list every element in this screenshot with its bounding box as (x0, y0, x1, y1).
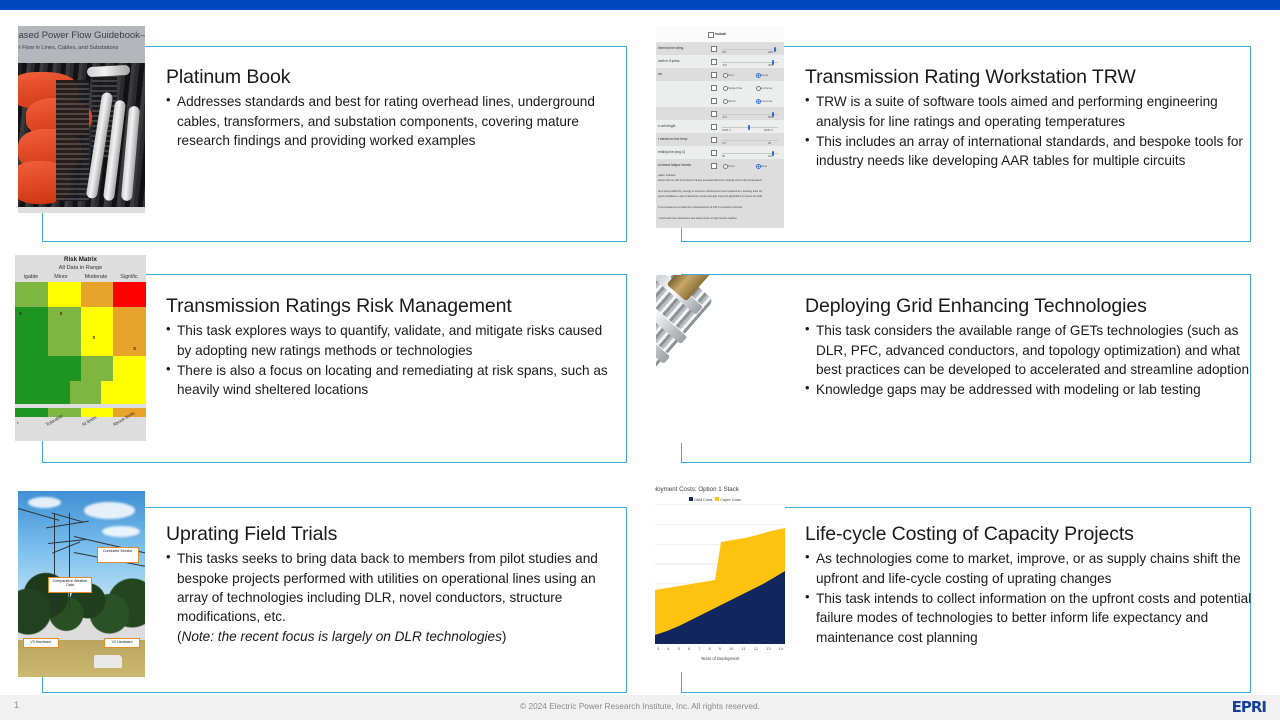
panel-text: Transmission Rating Workstation TRW TRW … (805, 66, 1255, 172)
tower-leg (54, 513, 55, 617)
list-item: There is also a focus on locating and re… (166, 361, 618, 400)
list-item-lead: This tasks seeks to bring data back to m… (177, 551, 598, 624)
chart-x-ticks: 3 4 5 6 7 8 9 10 11 12 13 14 (657, 646, 783, 651)
form-row: e unit length 1000 ft 6000 ft (656, 120, 784, 133)
bullet-list: This task explores ways to quantify, val… (166, 321, 618, 399)
row-min: 0 F (722, 141, 726, 145)
row-min: 1000 ft (722, 128, 731, 132)
list-item: This includes an array of international … (805, 132, 1255, 171)
x-tick: 7 (698, 646, 700, 651)
slide-footer: 1 © 2024 Electric Power Research Institu… (0, 695, 1280, 720)
legend-swatch (15, 408, 48, 417)
risk-cell (48, 282, 81, 307)
risk-col-header: Minor (44, 274, 78, 280)
legend-swatch-oam (689, 497, 693, 501)
x-tick: 5 (678, 646, 680, 651)
legend-label: r (16, 420, 20, 425)
copyright-text: © 2024 Electric Power Research Institute… (0, 701, 1280, 711)
row-label: erating line (deg C) (658, 150, 685, 154)
list-item: This task explores ways to quantify, val… (166, 321, 618, 360)
legend-swatch-capex (715, 497, 719, 501)
radio-label: Good (761, 73, 768, 77)
list-item: TRW is a suite of software tools aimed a… (805, 92, 1255, 131)
book-cover-image: ncreased Power Flow Guidebook—20 g Power… (18, 26, 145, 213)
form-footnote: gation Indicator (658, 174, 676, 177)
panel-title: Transmission Rating Workstation TRW (805, 66, 1255, 88)
row-checkbox[interactable] (711, 85, 717, 91)
cover-title: ncreased Power Flow Guidebook—20 (18, 30, 145, 41)
x-tick: 8 (708, 646, 710, 651)
row-slider-knob[interactable] (748, 125, 750, 130)
panel-text: Life-cycle Costing of Capacity Projects … (805, 523, 1255, 648)
x-tick: 10 (729, 646, 733, 651)
cover-photo (18, 63, 145, 207)
row-max: 50% (768, 115, 774, 119)
list-item: This tasks seeks to bring data back to m… (166, 549, 621, 645)
risk-cell (15, 332, 48, 357)
risk-cell: x (113, 356, 146, 381)
form-row: Single Pole H-Frame (656, 81, 784, 94)
row-checkbox[interactable] (711, 111, 717, 117)
form-footnote: r wind load case clearances and safety f… (658, 217, 737, 220)
risk-col-header: Signific (111, 274, 146, 280)
radio-label: Single Pole (728, 86, 742, 90)
cable (86, 65, 130, 77)
panel-text: Uprating Field Trials This tasks seeks t… (166, 523, 621, 647)
truck (94, 655, 122, 668)
row-min: -5% (722, 115, 727, 119)
risk-marker: x (93, 335, 96, 341)
x-tick: 14 (779, 646, 783, 651)
form-row: Wood Concrete (656, 94, 784, 107)
radio-label: H-Frame (761, 86, 772, 90)
form-row: ion Poor Good (656, 68, 784, 81)
form-footnote: Time clearances to determine characteris… (658, 206, 742, 209)
row-checkbox[interactable] (711, 72, 717, 78)
risk-cell (15, 282, 48, 307)
panel-title: Platinum Book (166, 66, 618, 88)
top-accent-bar (0, 0, 1280, 10)
radio-label: Most (761, 164, 767, 168)
legend-label-oam: O&M Costs (694, 498, 712, 502)
risk-cell (81, 282, 114, 307)
conductor-body (656, 275, 788, 443)
row-min: 0% (722, 50, 726, 54)
risk-cell (48, 332, 81, 357)
chart-areas (655, 504, 785, 644)
x-tick: 13 (766, 646, 770, 651)
row-min: 50 (722, 154, 725, 158)
cloud (28, 497, 61, 508)
list-item: Knowledge gaps may be addressed with mod… (805, 380, 1255, 399)
panel-title: Deploying Grid Enhancing Technologies (805, 295, 1255, 317)
risk-cell (113, 332, 146, 357)
row-max: 30% (768, 63, 774, 67)
x-tick: 9 (719, 646, 721, 651)
risk-cell (48, 356, 81, 381)
list-item: This task considers the available range … (805, 321, 1255, 379)
panel-title: Transmission Ratings Risk Management (166, 295, 618, 317)
risk-cell (81, 307, 114, 332)
panel-text: Deploying Grid Enhancing Technologies Th… (805, 295, 1255, 401)
chart-legend: O&M Costs Capex Costs (689, 497, 741, 502)
radio-label: None (728, 164, 735, 168)
radio-label: Poor (728, 73, 734, 77)
insulator-fins (56, 80, 89, 201)
form-header: Include (656, 26, 784, 43)
x-tick: 11 (742, 646, 746, 651)
risk-matrix-image: Risk Matrix All Data in Range igable Min… (15, 255, 146, 441)
photo-tag-conductor-monitor: Conductor Monitor (97, 547, 139, 563)
legend-label-capex: Capex Costs (720, 498, 741, 502)
list-item: Addresses standards and best for rating … (166, 92, 618, 150)
row-checkbox[interactable] (711, 98, 717, 104)
row-label: e unit length (658, 124, 675, 128)
form-row: thermal line rating 0% 30% (656, 42, 784, 55)
row-label: thermal line rating (658, 46, 683, 50)
form-footnote: good candidates. Lack of aluminum tensil… (658, 195, 762, 198)
chart-title: tive Deployment Costs: Option 1 Stack (655, 486, 739, 493)
legend-entry-oam: O&M Costs (689, 498, 712, 502)
photo-tag-v2-hardware: V2 Hardware (104, 638, 140, 648)
row-max: 100 (768, 154, 773, 158)
x-tick: 12 (754, 646, 758, 651)
panel-text: Transmission Ratings Risk Management Thi… (166, 295, 618, 401)
row-checkbox[interactable] (711, 163, 717, 169)
risk-cell: x (15, 307, 48, 332)
risk-marker: x (133, 346, 136, 352)
form-row: erating line (deg C) 50 100 (656, 146, 784, 159)
trw-software-screenshot: Include thermal line rating 0% 30% owth … (656, 26, 784, 228)
bullet-list: Addresses standards and best for rating … (166, 92, 618, 150)
legend-swatch (81, 408, 114, 417)
row-label: owth in 5 years (658, 59, 679, 63)
row-checkbox[interactable] (711, 137, 717, 143)
row-label: t maximum line temp (658, 137, 687, 141)
photo-tag-v3-hardware: V3 Hardware (23, 638, 59, 648)
form-row: t maximum line temp 0 F 30 (656, 133, 784, 146)
row-checkbox[interactable] (711, 124, 717, 130)
tower-leg (69, 513, 70, 610)
cover-subtitle: g Power Flow in Lines, Cables, and Subst… (18, 45, 118, 51)
panel-title: Uprating Field Trials (166, 523, 621, 545)
risk-matrix-subtitle: All Data in Range (15, 265, 146, 271)
risk-cell: x (48, 307, 81, 332)
note-italic: Note: the recent focus is largely on DLR… (182, 629, 502, 644)
form-footnote: as is best justified by savings in struc… (658, 190, 762, 193)
x-tick: 6 (688, 646, 690, 651)
risk-fill-extra (101, 381, 146, 404)
form-row: -5% 50% (656, 107, 784, 120)
bullet-list: This tasks seeks to bring data back to m… (166, 549, 621, 645)
row-label: ion (658, 72, 662, 76)
legend-entry-capex: Capex Costs (715, 498, 741, 502)
x-tick: 3 (657, 646, 659, 651)
row-max: 6000 ft (764, 128, 773, 132)
row-max: 30% (768, 50, 774, 54)
cloud (84, 502, 135, 519)
risk-matrix-grid: x x x x (15, 282, 146, 381)
panel-text: Platinum Book Addresses standards and be… (166, 66, 618, 151)
lifecycle-chart: tive Deployment Costs: Option 1 Stack O&… (655, 484, 785, 672)
row-min: -5% (722, 63, 727, 67)
row-checkbox[interactable] (711, 46, 717, 52)
risk-cell: x (81, 332, 114, 357)
risk-cell (113, 307, 146, 332)
chart-x-label: Years of Deployment (655, 656, 785, 661)
row-slider-knob[interactable] (774, 47, 776, 52)
risk-cell (15, 356, 48, 381)
panel-title: Life-cycle Costing of Capacity Projects (805, 523, 1255, 545)
risk-marker: x (19, 311, 22, 317)
photo-tag-comparative-weather-data: Comparative Weather Data (48, 577, 91, 593)
note-close: ) (502, 629, 507, 644)
row-checkbox[interactable] (711, 150, 717, 156)
row-label: al strand fatigue breaks (658, 163, 691, 167)
list-item: As technologies come to market, improve,… (805, 549, 1255, 588)
epri-logo: EPRI (1232, 698, 1266, 716)
risk-marker: x (60, 311, 63, 317)
form-row: owth in 5 years -5% 30% (656, 55, 784, 68)
risk-fill-extra (70, 381, 101, 404)
row-checkbox[interactable] (711, 59, 717, 65)
include-checkbox[interactable] (708, 32, 714, 38)
radio-label: Concrete (761, 99, 772, 103)
risk-fill-extra (39, 381, 70, 404)
slide-content: ncreased Power Flow Guidebook—20 g Power… (0, 10, 1280, 695)
row-max: 30 (768, 141, 771, 145)
bullet-list: This task considers the available range … (805, 321, 1255, 399)
bullet-list: As technologies come to market, improve,… (805, 549, 1255, 646)
risk-fill-extra (15, 381, 39, 404)
legend-swatch (48, 408, 81, 417)
radio-label: Wood (728, 99, 735, 103)
form-row: al strand fatigue breaks None Most (656, 159, 784, 172)
risk-col-header: Moderate (76, 274, 116, 280)
chart-plot-area (655, 504, 785, 644)
list-item: This task intends to collect information… (805, 589, 1255, 647)
risk-col-header: igable (15, 274, 47, 280)
include-label: Include (715, 32, 726, 36)
x-tick: 4 (667, 646, 669, 651)
risk-cell (81, 356, 114, 381)
conductor-photo (656, 275, 788, 443)
risk-cell (113, 282, 146, 307)
form-footnote: ductor with an HTLS conductor having ann… (658, 179, 762, 182)
risk-matrix-title: Risk Matrix (15, 256, 146, 263)
bullet-list: TRW is a suite of software tools aimed a… (805, 92, 1255, 170)
field-trial-photo: Conductor Monitor Comparative Weather Da… (18, 491, 145, 677)
